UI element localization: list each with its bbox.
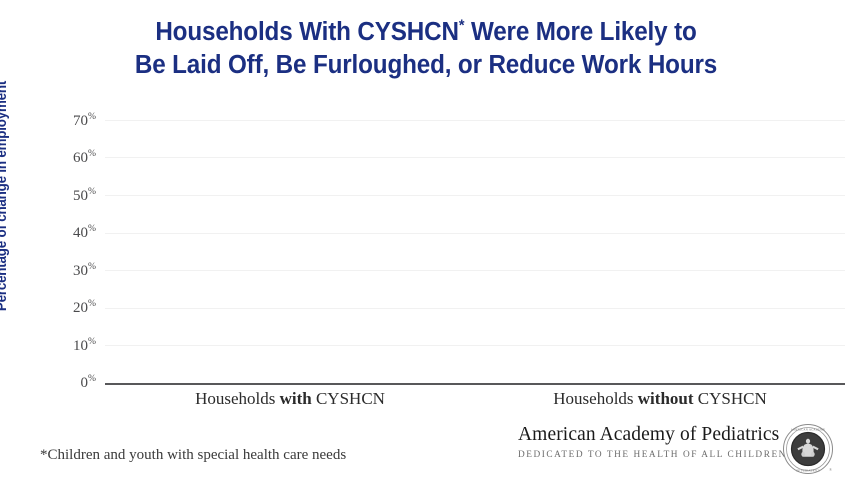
chart-title-line-1: Households With CYSHCN* Were More Likely… [21, 16, 830, 49]
chart-title-line-1-b: Were More Likely to [464, 18, 696, 46]
x-label-without-cyshcn: Households without CYSHCN [475, 389, 845, 409]
bar-slot-without-cyshcn [475, 120, 845, 383]
chart-title: Households With CYSHCN* Were More Likely… [21, 16, 830, 82]
y-tick-20-unit: % [88, 298, 96, 309]
y-tick-0: 0% [26, 375, 96, 392]
svg-text:®: ® [829, 467, 832, 472]
y-tick-0-value: 0 [81, 375, 89, 391]
aap-logo: American Academy of Pediatrics DEDICATED… [518, 424, 844, 476]
x-label-with-emphasis: with [280, 389, 312, 408]
x-label-without-suffix: CYSHCN [694, 389, 767, 408]
y-tick-70-unit: % [88, 111, 96, 122]
y-tick-0-unit: % [88, 373, 96, 384]
x-label-with-suffix: CYSHCN [312, 389, 385, 408]
y-tick-40-value: 40 [73, 225, 88, 241]
x-label-with-cyshcn: Households with CYSHCN [105, 389, 475, 409]
aap-tagline: DEDICATED TO THE HEALTH OF ALL CHILDREN® [518, 450, 776, 460]
x-label-with-prefix: Households [195, 389, 280, 408]
y-tick-10-unit: % [88, 336, 96, 347]
y-tick-70: 70% [26, 113, 96, 130]
y-tick-70-value: 70 [73, 113, 88, 129]
aap-tagline-text: DEDICATED TO THE HEALTH OF ALL CHILDREN [518, 450, 787, 460]
y-tick-20: 20% [26, 300, 96, 317]
y-tick-60: 60% [26, 150, 96, 167]
y-tick-60-value: 60 [73, 150, 88, 166]
y-tick-50-value: 50 [73, 188, 88, 204]
x-label-without-prefix: Households [553, 389, 638, 408]
x-axis-baseline [105, 383, 845, 385]
y-tick-50-unit: % [88, 186, 96, 197]
y-tick-30: 30% [26, 263, 96, 280]
chart-title-line-1-a: Households With CYSHCN [155, 18, 459, 46]
y-tick-50: 50% [26, 188, 96, 205]
aap-seal-icon: AMERICAN ACADEMY OF PEDIATRICS ® [782, 423, 836, 477]
x-label-without-emphasis: without [638, 389, 694, 408]
footnote: *Children and youth with special health … [40, 447, 346, 464]
y-tick-30-value: 30 [73, 263, 88, 279]
x-axis-category-labels: Households with CYSHCN Households withou… [105, 389, 845, 409]
svg-text:OF PEDIATRICS: OF PEDIATRICS [796, 468, 820, 472]
bar-slot-with-cyshcn [105, 120, 475, 383]
y-tick-40: 40% [26, 225, 96, 242]
plot-area [105, 120, 845, 383]
slide-canvas: Households With CYSHCN* Were More Likely… [0, 0, 852, 479]
y-axis-tick-labels: 70% 60% 50% 40% 30% 20% 10% 0% [22, 0, 96, 479]
aap-organization-name: American Academy of Pediatrics [518, 424, 776, 446]
y-tick-10: 10% [26, 338, 96, 355]
chart-title-line-2: Be Laid Off, Be Furloughed, or Reduce Wo… [21, 49, 830, 82]
y-tick-10-value: 10 [73, 338, 88, 354]
y-tick-20-value: 20 [73, 300, 88, 316]
y-tick-30-unit: % [88, 261, 96, 272]
y-tick-40-unit: % [88, 223, 96, 234]
svg-text:AMERICAN ACADEMY: AMERICAN ACADEMY [791, 428, 826, 432]
aap-logo-text: American Academy of Pediatrics DEDICATED… [518, 424, 776, 460]
y-tick-60-unit: % [88, 148, 96, 159]
y-axis-title: Percentage of change in employment [0, 30, 10, 361]
